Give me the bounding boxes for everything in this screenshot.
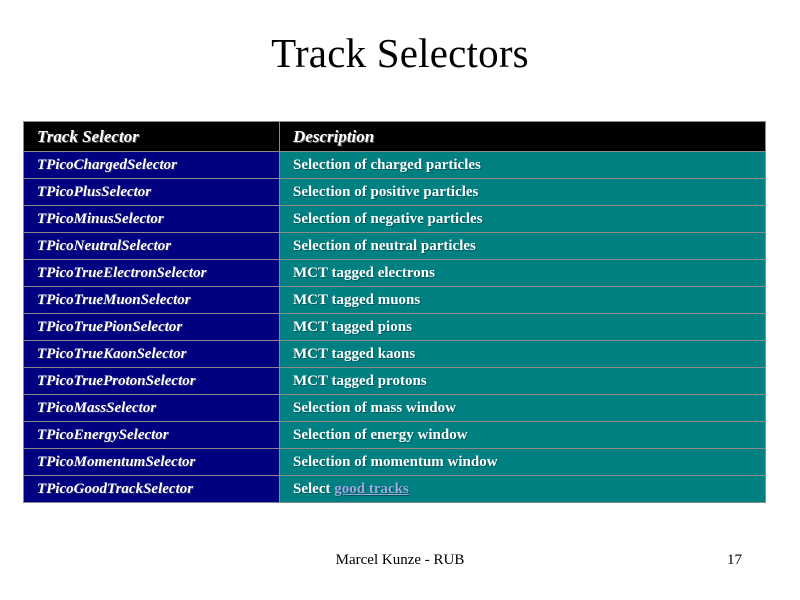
- cell-description: Selection of momentum window: [280, 449, 766, 476]
- cell-description: Selection of charged particles: [280, 152, 766, 179]
- cell-description: Selection of mass window: [280, 395, 766, 422]
- good-tracks-link[interactable]: good tracks: [334, 481, 409, 497]
- description-text: Select: [293, 481, 334, 497]
- cell-description: Select good tracks: [280, 476, 766, 503]
- cell-track-selector: TPicoMomentumSelector: [24, 449, 280, 476]
- cell-track-selector: TPicoTrueKaonSelector: [24, 341, 280, 368]
- cell-description: MCT tagged pions: [280, 314, 766, 341]
- cell-track-selector: TPicoTrueElectronSelector: [24, 260, 280, 287]
- cell-description: Selection of neutral particles: [280, 233, 766, 260]
- cell-description: Selection of positive particles: [280, 179, 766, 206]
- cell-track-selector: TPicoMassSelector: [24, 395, 280, 422]
- table-row: TPicoPlusSelectorSelection of positive p…: [24, 179, 766, 206]
- table-row: TPicoMinusSelectorSelection of negative …: [24, 206, 766, 233]
- cell-track-selector: TPicoTrueMuonSelector: [24, 287, 280, 314]
- table-row: TPicoTrueElectronSelectorMCT tagged elec…: [24, 260, 766, 287]
- cell-track-selector: TPicoTruePionSelector: [24, 314, 280, 341]
- track-selectors-table: Track Selector Description TPicoChargedS…: [23, 121, 766, 503]
- table-header: Track Selector Description: [24, 122, 766, 152]
- cell-description: Selection of energy window: [280, 422, 766, 449]
- table-row: TPicoTrueMuonSelectorMCT tagged muons: [24, 287, 766, 314]
- cell-description: MCT tagged electrons: [280, 260, 766, 287]
- cell-track-selector: TPicoEnergySelector: [24, 422, 280, 449]
- cell-description: Selection of negative particles: [280, 206, 766, 233]
- cell-description: MCT tagged protons: [280, 368, 766, 395]
- cell-description: MCT tagged kaons: [280, 341, 766, 368]
- table-row: TPicoNeutralSelectorSelection of neutral…: [24, 233, 766, 260]
- table-body: TPicoChargedSelectorSelection of charged…: [24, 152, 766, 503]
- cell-track-selector: TPicoPlusSelector: [24, 179, 280, 206]
- table-row: TPicoTrueProtonSelectorMCT tagged proton…: [24, 368, 766, 395]
- column-header-track-selector: Track Selector: [24, 122, 280, 152]
- table-row: TPicoGoodTrackSelectorSelect good tracks: [24, 476, 766, 503]
- cell-track-selector: TPicoTrueProtonSelector: [24, 368, 280, 395]
- table-row: TPicoTruePionSelectorMCT tagged pions: [24, 314, 766, 341]
- cell-track-selector: TPicoMinusSelector: [24, 206, 280, 233]
- table-row: TPicoChargedSelectorSelection of charged…: [24, 152, 766, 179]
- page-title: Track Selectors: [0, 28, 800, 78]
- cell-track-selector: TPicoNeutralSelector: [24, 233, 280, 260]
- table-row: TPicoEnergySelectorSelection of energy w…: [24, 422, 766, 449]
- cell-track-selector: TPicoGoodTrackSelector: [24, 476, 280, 503]
- slide: Track Selectors Track Selector Descripti…: [0, 0, 800, 600]
- footer-author: Marcel Kunze - RUB: [0, 552, 800, 569]
- table-row: TPicoMassSelectorSelection of mass windo…: [24, 395, 766, 422]
- table-row: TPicoMomentumSelectorSelection of moment…: [24, 449, 766, 476]
- cell-description: MCT tagged muons: [280, 287, 766, 314]
- cell-track-selector: TPicoChargedSelector: [24, 152, 280, 179]
- table-header-row: Track Selector Description: [24, 122, 766, 152]
- footer-page-number: 17: [727, 552, 742, 569]
- table-row: TPicoTrueKaonSelectorMCT tagged kaons: [24, 341, 766, 368]
- column-header-description: Description: [280, 122, 766, 152]
